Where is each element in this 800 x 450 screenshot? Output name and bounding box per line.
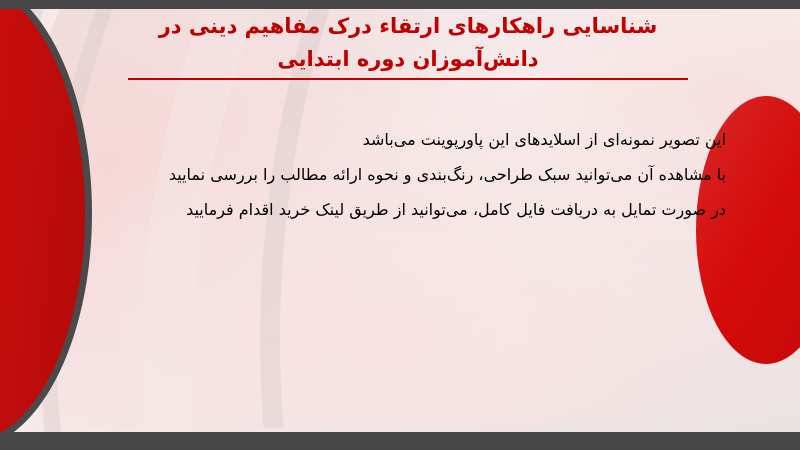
title-line-1: شناسایی راهکارهای ارتقاء درک مفاهیم دینی… bbox=[128, 10, 688, 43]
body-line-2: با مشاهده آن می‌توانید سبک طراحی، رنگ‌بن… bbox=[86, 157, 726, 192]
frame-top-bar bbox=[0, 0, 800, 9]
title-line-2: دانش‌آموزان دوره ابتدایی bbox=[128, 43, 688, 76]
slide-title: شناسایی راهکارهای ارتقاء درک مفاهیم دینی… bbox=[128, 10, 688, 76]
body-line-1: این تصویر نمونه‌ای از اسلایدهای این پاور… bbox=[86, 122, 726, 157]
title-underline-rule bbox=[128, 78, 688, 80]
presentation-slide: شناسایی راهکارهای ارتقاء درک مفاهیم دینی… bbox=[0, 0, 800, 450]
body-line-3: در صورت تمایل به دریافت فایل کامل، می‌تو… bbox=[86, 192, 726, 227]
slide-body: این تصویر نمونه‌ای از اسلایدهای این پاور… bbox=[86, 122, 726, 227]
